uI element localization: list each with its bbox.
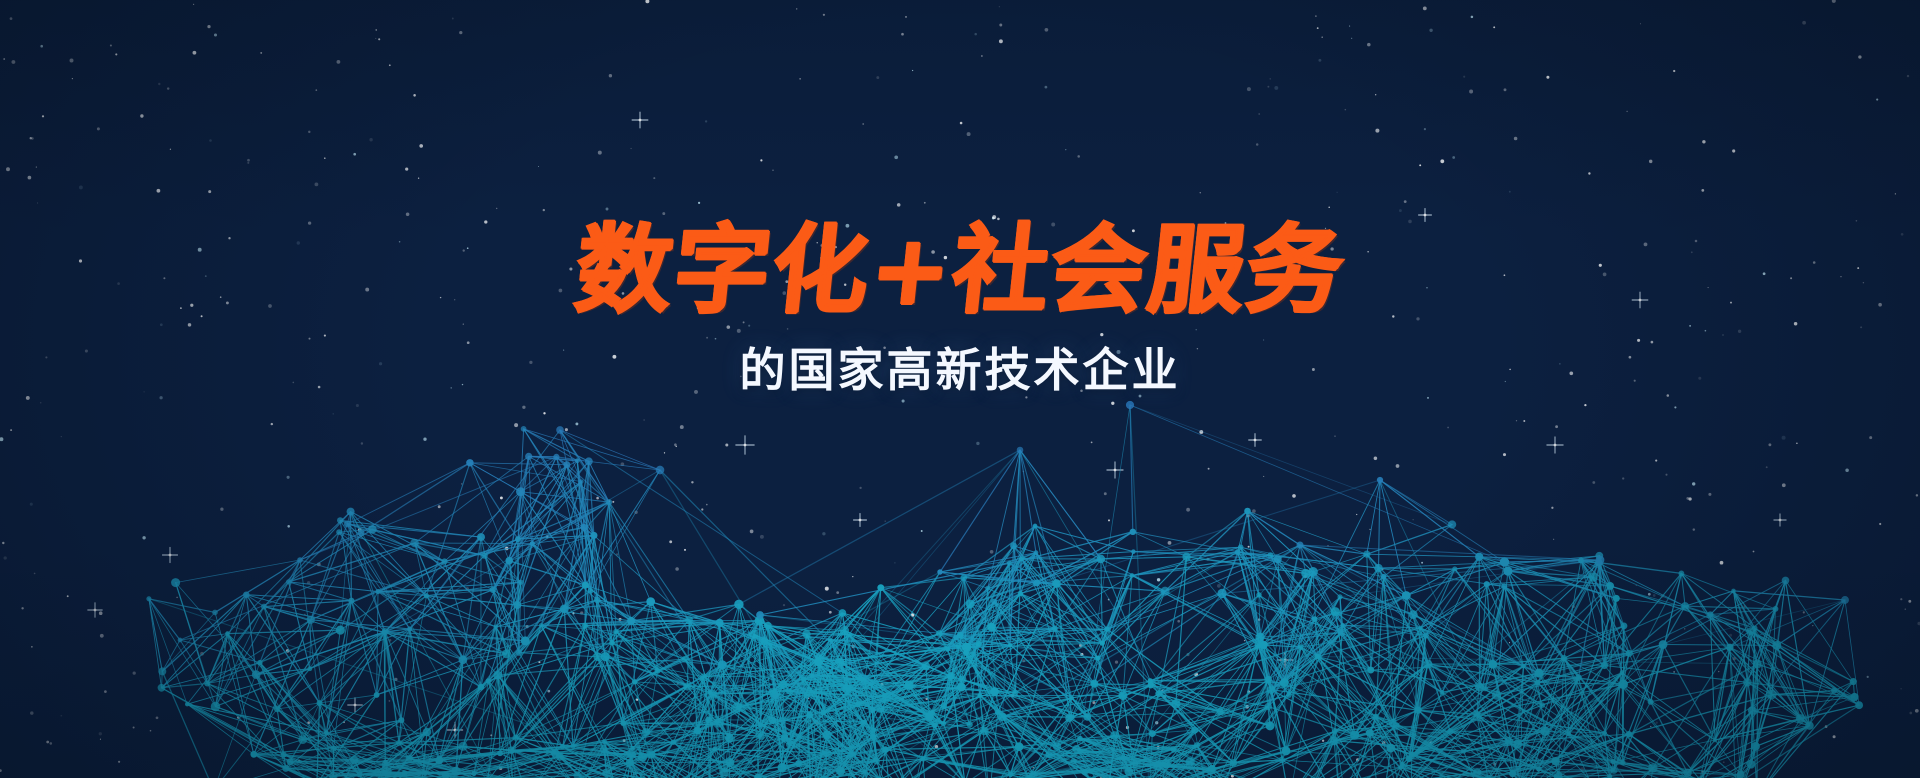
network-mesh-graphic (0, 0, 1920, 778)
network-edges (149, 405, 1859, 778)
hero-banner: 数字化+社会服务 的国家高新技术企业 (0, 0, 1920, 778)
